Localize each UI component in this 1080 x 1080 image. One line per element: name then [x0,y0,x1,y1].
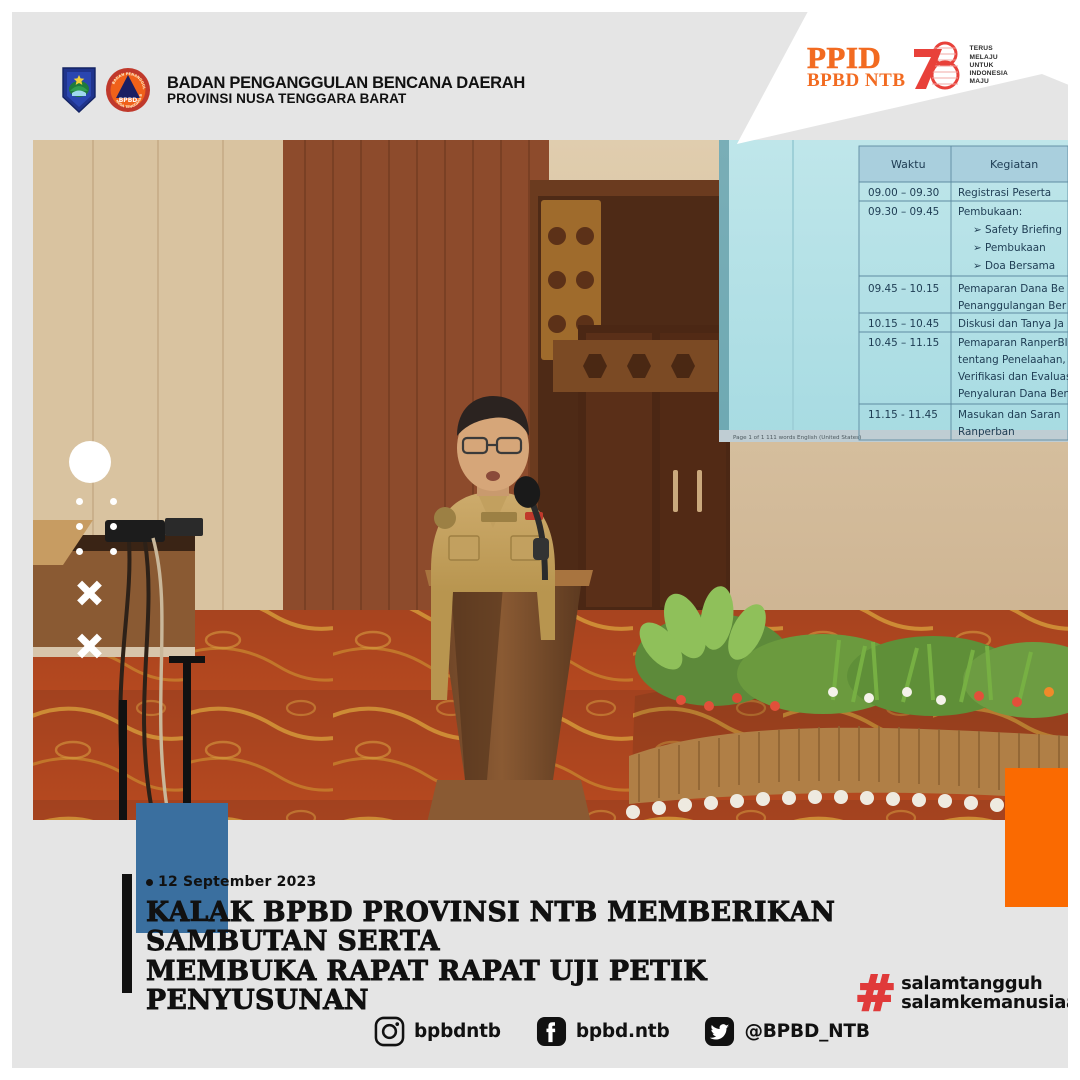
hash-symbol-icon: # [855,974,896,1013]
svg-text:09.00 – 09.30: 09.00 – 09.30 [868,187,939,199]
svg-text:Pemaparan RanperBl: Pemaparan RanperBl [958,337,1068,349]
social-item-twitter[interactable]: @BPBD_NTB [704,1016,869,1047]
agency-name-line1: BADAN PENGANGGULAN BENCANA DAERAH [167,75,525,92]
social-item-facebook[interactable]: bpbd.ntb [536,1016,670,1047]
agency-header: BPBD BADAN PENANGGULANGAN BENCANA NUSA T… [62,67,525,113]
decor-dot-grid [76,498,144,573]
slogan-line-3: UNTUK [970,62,1008,70]
social-item-instagram[interactable]: bpbdntb [374,1016,501,1047]
svg-text:Waktu: Waktu [891,158,926,171]
facebook-icon[interactable] [536,1016,567,1047]
bpbd-round-logo-icon: BPBD BADAN PENANGGULANGAN BENCANA NUSA T… [105,67,151,113]
svg-text:Pembukaan:: Pembukaan: [958,206,1022,218]
svg-text:➢ Pembukaan: ➢ Pembukaan [973,242,1046,254]
ntb-province-shield-icon [62,67,96,113]
page-title-line1: KALAK BPBD PROVINSI NTB MEMBERIKAN SAMBU… [146,898,912,957]
page-title-line2: MEMBUKA RAPAT RAPAT UJI PETIK PENYUSUNAN [146,957,912,1016]
ppid-title: PPID [807,43,906,72]
decor-cross-2 [75,632,103,660]
svg-text:Pemaparan Dana Be: Pemaparan Dana Be [958,283,1064,295]
instagram-icon[interactable] [374,1016,405,1047]
svg-text:Page 1 of 1 111 words Engl: Page 1 of 1 111 words English (United St… [733,435,861,441]
instagram-handle[interactable]: bpbdntb [414,1021,501,1042]
ppid-lockup: PPID BPBD NTB TERUS MEL [807,40,1008,92]
ppid-subtitle: BPBD NTB [807,72,906,90]
twitter-icon[interactable] [704,1016,735,1047]
hashtag-line1: salamtangguh [901,975,1068,994]
facebook-handle[interactable]: bpbd.ntb [576,1021,670,1042]
decor-circle [69,441,111,483]
svg-text:Kegiatan: Kegiatan [990,158,1038,171]
svg-text:09.30 – 09.45: 09.30 – 09.45 [868,206,939,218]
caption-block: 12 September 2023 KALAK BPBD PROVINSI NT… [146,874,936,1016]
svg-text:➢ Doa Bersama: ➢ Doa Bersama [973,260,1055,272]
svg-text:Registrasi Peserta: Registrasi Peserta [958,187,1051,199]
hashtag-line2: salamkemanusiaan [901,994,1068,1013]
svg-text:11.15 - 11.45: 11.15 - 11.45 [868,409,938,421]
bullet-icon [146,879,153,886]
slogan-line-4: INDONESIA [970,70,1008,78]
anniversary-78-icon [912,40,964,92]
anniversary-slogan: TERUS MELAJU UNTUK INDONESIA MAJU [970,45,1008,86]
svg-text:Verifikasi dan Evaluas: Verifikasi dan Evaluas [958,371,1068,383]
page-title: KALAK BPBD PROVINSI NTB MEMBERIKAN SAMBU… [146,898,912,1016]
caption-accent-bar [122,874,132,993]
poster-canvas: Page 1 of 1 111 words English (United St… [12,12,1068,1068]
svg-text:Penanggulangan Ber: Penanggulangan Ber [958,300,1067,312]
svg-text:Penyaluran Dana Ben: Penyaluran Dana Ben [958,388,1068,400]
twitter-handle[interactable]: @BPBD_NTB [744,1021,869,1042]
event-date-text: 12 September 2023 [158,874,316,890]
svg-text:10.15 – 10.45: 10.15 – 10.45 [868,318,939,330]
svg-text:tentang Penelaahan,: tentang Penelaahan, [958,354,1066,366]
svg-text:09.45 – 10.15: 09.45 – 10.15 [868,283,939,295]
svg-text:Ranperban: Ranperban [958,426,1015,438]
svg-text:Diskusi dan Tanya Ja: Diskusi dan Tanya Ja [958,318,1064,330]
campaign-hashtag: # salamtangguh salamkemanusiaan [855,974,1068,1013]
slogan-line-2: MELAJU [970,54,1008,62]
decor-cross-1 [75,579,103,607]
orange-accent-block [1005,768,1068,907]
svg-text:10.45 – 11.15: 10.45 – 11.15 [868,337,939,349]
slogan-line-5: MAJU [970,78,1008,86]
slogan-line-1: TERUS [970,45,1008,53]
svg-text:Masukan dan Saran: Masukan dan Saran [958,409,1060,421]
svg-text:➢ Safety Briefing: ➢ Safety Briefing [973,224,1062,236]
poster-root: Page 1 of 1 111 words English (United St… [0,0,1080,1080]
agency-name-line2: PROVINSI NUSA TENGGARA BARAT [167,92,525,106]
event-photo: Page 1 of 1 111 words English (United St… [33,140,1068,820]
social-bar: bpbdntb bpbd.ntb @BPBD_NTB [374,1016,870,1047]
event-date: 12 September 2023 [146,874,936,890]
